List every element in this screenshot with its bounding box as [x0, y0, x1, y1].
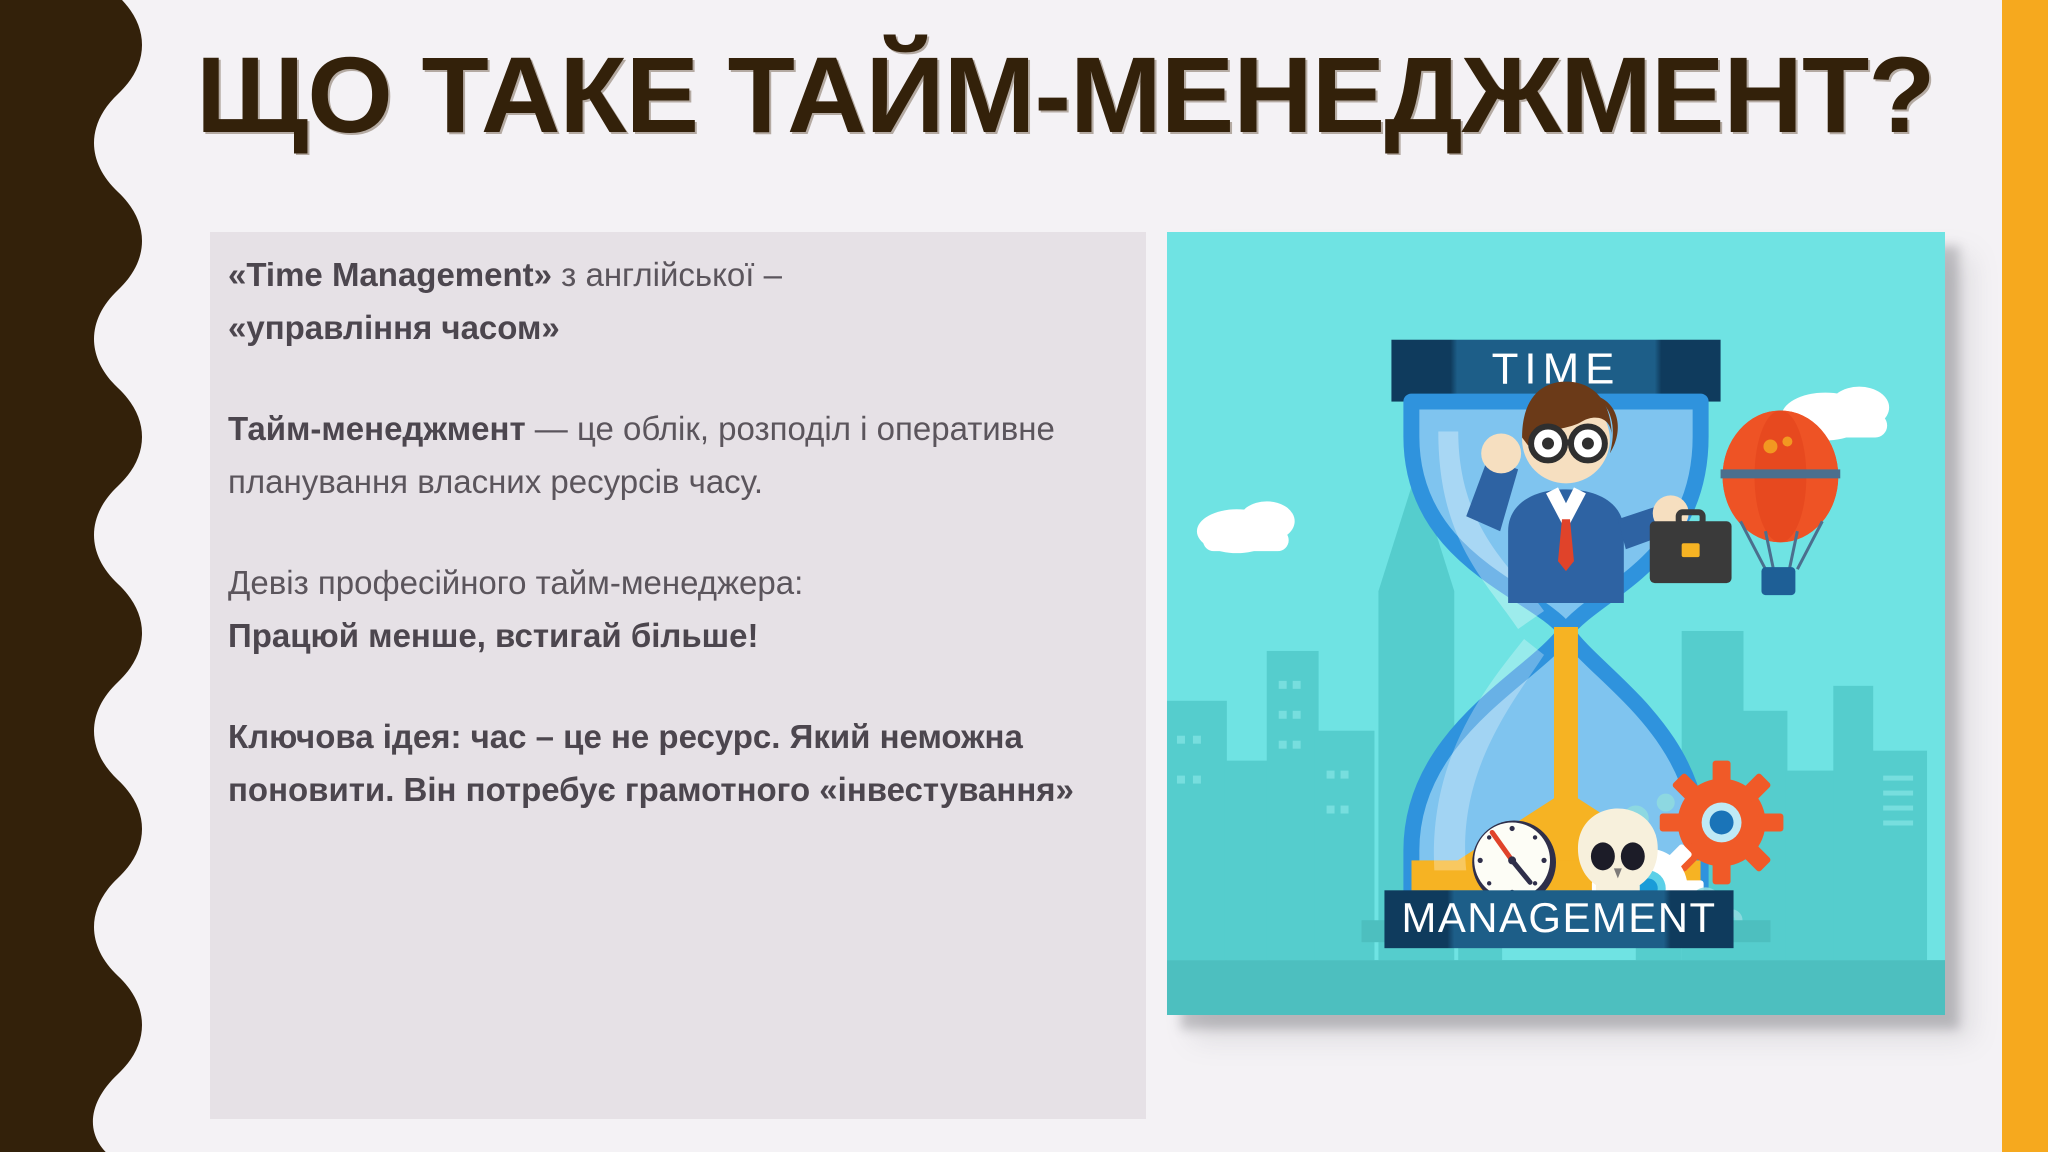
- text-run: з англійської –: [552, 256, 782, 293]
- text-run: Тайм-менеджмент: [228, 410, 526, 447]
- text-run: «управління часом»: [228, 309, 560, 346]
- text-run: Девіз професійного тайм-менеджера:: [228, 564, 803, 601]
- accent-bar-right: [2002, 0, 2048, 1152]
- paragraph-key-idea: Ключова ідея: час – це не ресурс. Який н…: [228, 710, 1128, 816]
- text-run: «Time Management»: [228, 256, 552, 293]
- text-run: Працюй менше, встигай більше!: [228, 617, 759, 654]
- paragraph-definition-origin: «Time Management» з англійської –«управл…: [228, 248, 1128, 354]
- paragraph-motto: Девіз професійного тайм-менеджера:Працюй…: [228, 556, 1128, 662]
- management-bar: MANAGEMENT: [1384, 890, 1733, 948]
- text-run: Ключова ідея: час – це не ресурс. Який н…: [228, 718, 1074, 808]
- time-management-illustration: TIME: [1167, 232, 1945, 1015]
- ground-strip: [1167, 960, 1945, 1015]
- slide: ЩО ТАКЕ ТАЙМ-МЕНЕДЖМЕНТ? «Time Managemen…: [0, 0, 2048, 1152]
- page-title: ЩО ТАКЕ ТАЙМ-МЕНЕДЖМЕНТ?: [196, 36, 1930, 156]
- wave-band-decoration: [0, 0, 170, 1152]
- body-text-block: «Time Management» з англійської –«управл…: [228, 248, 1128, 816]
- management-label: MANAGEMENT: [1401, 894, 1716, 941]
- paragraph-definition-main: Тайм-менеджмент — це облік, розподіл і о…: [228, 402, 1128, 508]
